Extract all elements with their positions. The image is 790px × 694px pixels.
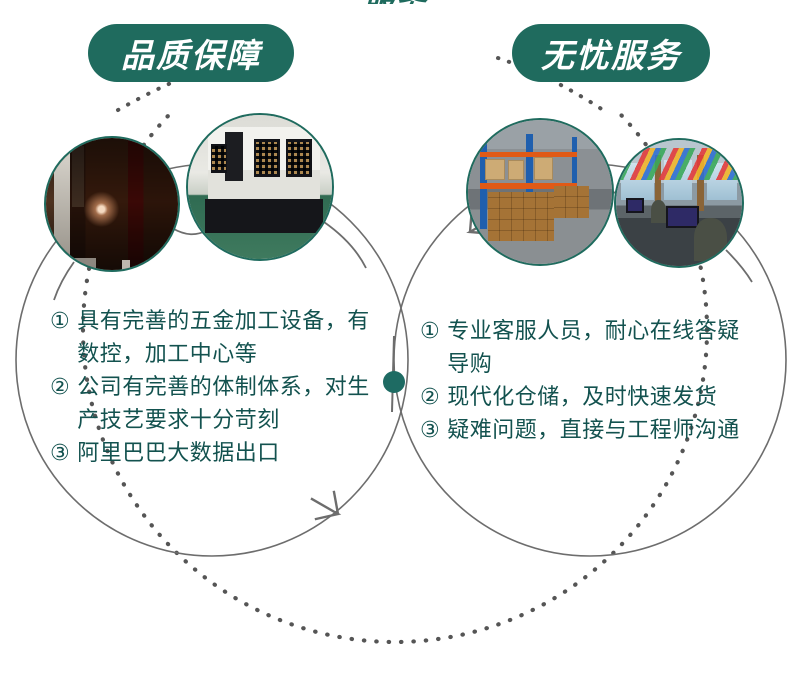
list-marker: ② [50,371,70,404]
office-workstations-photo [614,138,744,268]
laser-cutting-machine-photo [44,136,180,272]
list-item-text: 疑难问题，直接与工程师沟通 [447,414,760,447]
right-feature-list: ① 专业客服人员，耐心在线答疑导购 ② 现代化仓储，及时快速发货 ③ 疑难问题，… [420,315,760,447]
list-item-text: 阿里巴巴大数据出口 [77,437,380,470]
office-photo-inner [616,140,742,266]
list-item: ③ 阿里巴巴大数据出口 [50,437,380,470]
top-title-partial: 服务 [330,0,460,4]
list-marker: ① [420,315,440,348]
list-item: ② 现代化仓储，及时快速发货 [420,381,760,414]
list-item-text: 公司有完善的体制体系，对生产技艺要求十分苛刻 [77,371,380,437]
list-item: ③ 疑难问题，直接与工程师沟通 [420,414,760,447]
cnc-photo-inner [188,115,332,259]
decorative-flags [616,148,742,181]
cnc-grill-panel [286,139,312,176]
monitor [626,198,644,213]
list-item-text: 具有完善的五金加工设备，有数控，加工中心等 [77,305,380,371]
list-item-text: 专业客服人员，耐心在线答疑导购 [447,315,760,381]
center-dot [383,371,405,393]
cnc-column [225,132,242,181]
infographic-canvas: 服务 品质保障 无忧服务 [0,0,790,694]
list-item: ① 专业客服人员，耐心在线答疑导购 [420,315,760,381]
carton-stack [554,186,589,218]
warehouse-photo-inner [468,120,612,264]
list-marker: ③ [420,414,440,447]
list-item: ② 公司有完善的体制体系，对生产技艺要求十分苛刻 [50,371,380,437]
list-item-text: 现代化仓储，及时快速发货 [447,381,760,414]
monitor [666,206,699,229]
seated-person [694,218,727,261]
seated-person [651,200,666,223]
cnc-grill-panel [254,139,280,176]
laser-photo-inner [46,138,178,270]
warehouse-shelves-photo [466,118,614,266]
arrow-bottom-left [312,492,338,519]
carton-box [534,157,553,180]
list-marker: ③ [50,437,70,470]
badge-service[interactable]: 无忧服务 [512,24,710,82]
carton-box [508,160,524,180]
carton-stack [488,192,554,241]
list-marker: ① [50,305,70,338]
rack-beam [480,152,578,158]
list-item: ① 具有完善的五金加工设备，有数控，加工中心等 [50,305,380,371]
cnc-machining-center-photo [186,113,334,261]
cnc-grill-panel [211,144,227,173]
carton-box [485,159,505,181]
list-marker: ② [420,381,440,414]
left-feature-list: ① 具有完善的五金加工设备，有数控，加工中心等 ② 公司有完善的体制体系，对生产… [50,305,380,470]
badge-quality[interactable]: 品质保障 [88,24,294,82]
